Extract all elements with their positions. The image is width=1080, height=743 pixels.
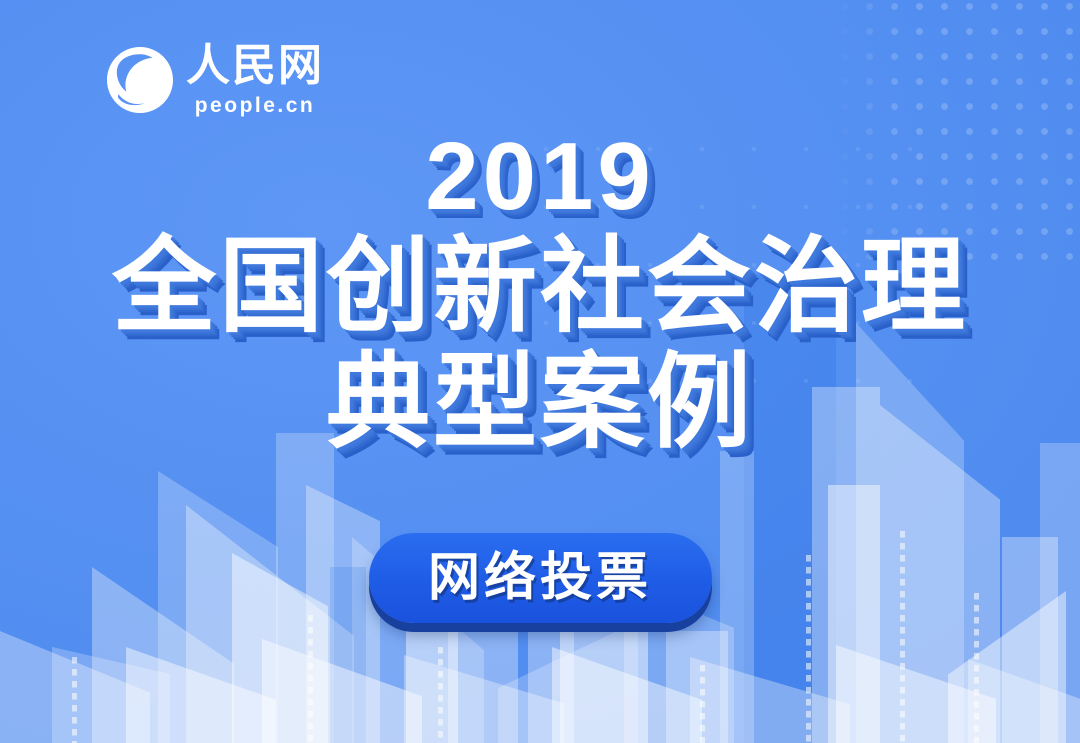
window-column	[438, 647, 443, 743]
building-shape	[498, 621, 638, 743]
building-shape	[690, 657, 850, 743]
building-shape	[52, 647, 170, 743]
building-shape	[262, 639, 422, 743]
poster-canvas: 人民网 people.cn 2019 全国创新社会治理 典型案例 网络投票	[0, 0, 1080, 743]
headline-year: 2019	[0, 128, 1080, 226]
cta-container: 网络投票	[0, 533, 1080, 623]
window-column	[700, 665, 705, 743]
people-cn-logo[interactable]: 人民网 people.cn	[104, 44, 324, 116]
building-shape	[448, 615, 518, 743]
building-shape	[836, 645, 996, 743]
people-cn-globe-swoosh-icon	[104, 44, 176, 116]
headline-line-2: 典型案例	[0, 348, 1080, 458]
headline-line-1: 全国创新社会治理	[0, 232, 1080, 342]
building-shape	[0, 631, 150, 743]
building-shape	[968, 659, 1080, 743]
logo-chinese-name: 人民网	[186, 44, 324, 88]
window-column	[72, 657, 77, 743]
logo-english-name: people.cn	[195, 95, 316, 116]
building-shape	[404, 655, 564, 743]
building-shape	[666, 631, 728, 743]
headline-block: 2019 全国创新社会治理 典型案例	[0, 128, 1080, 458]
logo-wordmark: 人民网 people.cn	[186, 44, 324, 116]
building-shape	[560, 609, 648, 743]
building-shape	[552, 647, 702, 743]
building-shape	[126, 647, 276, 743]
online-vote-button[interactable]: 网络投票	[369, 533, 712, 623]
online-vote-button-label: 网络投票	[428, 552, 652, 604]
window-column	[308, 615, 313, 743]
